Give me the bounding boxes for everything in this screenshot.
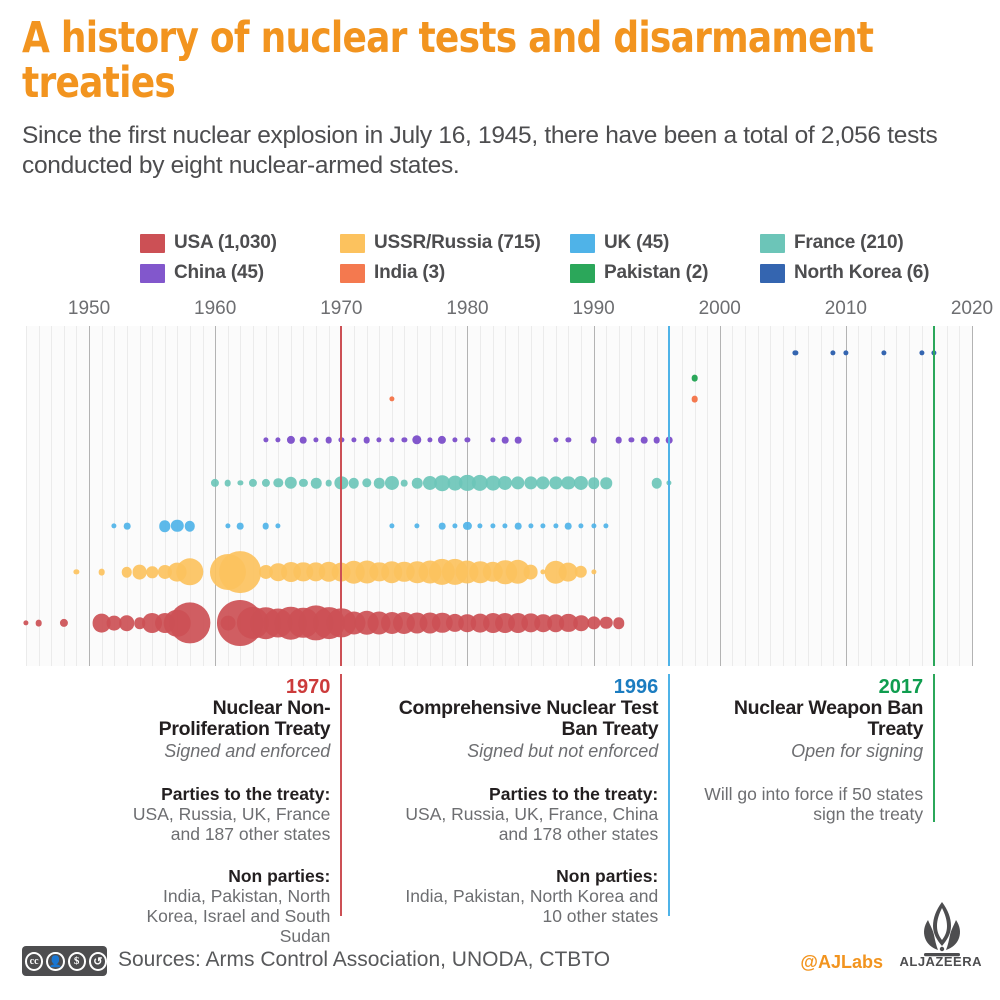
- bubble-northkorea-2013: [881, 350, 886, 355]
- legend-label-india: India (3): [374, 262, 445, 284]
- gridline-2000: [720, 326, 721, 666]
- gridline-2010: [846, 326, 847, 666]
- gridline-2004: [770, 326, 771, 666]
- bubble-france-1990: [588, 477, 600, 489]
- bubble-ussrrussia-1989: [575, 566, 587, 578]
- bubble-china-1978: [438, 436, 446, 444]
- bubble-france-1975: [401, 480, 408, 487]
- gridline-2002: [745, 326, 746, 666]
- gridline-2009: [833, 326, 834, 666]
- bubble-ussrrussia-1985: [523, 565, 538, 580]
- treaty-nonparties-heading-1996: Non parties:: [398, 866, 658, 886]
- bubble-france-1961: [224, 480, 231, 487]
- gridline-1950: [89, 326, 90, 666]
- bubble-usa-1990: [587, 616, 600, 629]
- bubble-uk-1964: [262, 523, 269, 530]
- treaty-name-2017: Nuclear Weapon Ban Treaty: [695, 698, 923, 740]
- treaty-name-1970: Nuclear Non-Proliferation Treaty: [125, 698, 330, 740]
- gridline-1954: [140, 326, 141, 666]
- bubble-uk-1976: [414, 523, 419, 528]
- bubble-uk-1985: [528, 523, 533, 528]
- gridline-1993: [631, 326, 632, 666]
- legend-item-india: India (3): [340, 262, 570, 284]
- bubble-china-1984: [515, 437, 522, 444]
- treaty-year-1996: 1996: [398, 676, 658, 698]
- bubble-china-1973: [377, 437, 382, 442]
- bubble-india-1998: [691, 396, 698, 403]
- gridline-2007: [808, 326, 809, 666]
- legend-label-france: France (210): [794, 232, 904, 254]
- bubble-france-1974: [385, 476, 399, 490]
- legend-item-china: China (45): [140, 262, 340, 284]
- page-title: A history of nuclear tests and disarmame…: [22, 16, 906, 106]
- bubble-france-1983: [498, 476, 512, 490]
- bubble-china-1987: [553, 437, 558, 442]
- bubble-france-1963: [249, 479, 257, 487]
- bubble-france-1985: [524, 476, 537, 489]
- legend-item-northkorea: North Korea (6): [760, 262, 980, 284]
- gridline-2008: [821, 326, 822, 666]
- treaty-parties-body-1996: USA, Russia, UK, France, China and 178 o…: [398, 804, 658, 844]
- axis-label-1980: 1980: [446, 298, 488, 320]
- gridline-1992: [619, 326, 620, 666]
- gridline-2014: [896, 326, 897, 666]
- bubble-uk-1952: [112, 523, 117, 528]
- bubble-china-1968: [314, 437, 319, 442]
- bubble-northkorea-2006: [793, 350, 798, 355]
- legend-swatch-china: [140, 264, 165, 283]
- bubble-france-1971: [349, 478, 360, 489]
- legend-label-pakistan: Pakistan (2): [604, 262, 708, 284]
- bubble-france-1965: [274, 478, 283, 487]
- cc-mark-sa-icon: ↺: [89, 952, 107, 971]
- bubble-china-1965: [276, 437, 281, 442]
- treaty-block-1970: 1970Nuclear Non-Proliferation TreatySign…: [125, 676, 330, 946]
- bubble-china-1995: [653, 437, 660, 444]
- bubble-france-1995: [651, 478, 662, 489]
- bubble-uk-1956: [159, 520, 171, 532]
- bubble-france-1968: [311, 478, 322, 489]
- treaty-line-plot-1996: [668, 326, 670, 666]
- page-subtitle: Since the first nuclear explosion in Jul…: [22, 121, 972, 181]
- cc-mark-nc-icon: $: [68, 952, 86, 971]
- bubble-uk-1961: [225, 523, 230, 528]
- treaty-parties-heading-1970: Parties to the treaty:: [125, 784, 330, 804]
- bubble-france-1987: [549, 476, 562, 489]
- gridline-1999: [707, 326, 708, 666]
- bubble-ussrrussia-1990: [591, 569, 596, 574]
- bubble-france-1976: [412, 478, 423, 489]
- legend-swatch-uk: [570, 234, 595, 253]
- bubble-china-1972: [363, 437, 370, 444]
- bubble-france-1972: [362, 478, 371, 487]
- bubble-france-1966: [285, 477, 297, 489]
- axis-label-1960: 1960: [194, 298, 236, 320]
- bubble-usa-1953: [119, 615, 135, 631]
- bubble-france-1989: [574, 476, 588, 490]
- gridline-2003: [758, 326, 759, 666]
- legend-label-china: China (45): [174, 262, 264, 284]
- bubble-uk-1987: [553, 523, 558, 528]
- ajlabs-handle: @AJLabs: [800, 952, 883, 973]
- bubble-uk-1962: [237, 523, 244, 530]
- gridline-1994: [644, 326, 645, 666]
- gridline-1946: [39, 326, 40, 666]
- bubble-uk-1980: [463, 522, 471, 530]
- treaty-nonparties-heading-1970: Non parties:: [125, 866, 330, 886]
- gridline-2011: [858, 326, 859, 666]
- bubble-china-1979: [452, 437, 457, 442]
- axis-label-1970: 1970: [320, 298, 362, 320]
- treaty-name-1996: Comprehensive Nuclear Test Ban Treaty: [398, 698, 658, 740]
- bubble-usa-1946: [35, 620, 42, 627]
- bubble-usa-1991: [600, 617, 612, 629]
- treaty-status-2017: Open for signing: [695, 740, 923, 762]
- bubble-uk-1986: [541, 523, 546, 528]
- bubble-ussrrussia-1953: [122, 567, 133, 578]
- gridline-1945: [26, 326, 27, 666]
- bubble-uk-1984: [515, 523, 522, 530]
- treaty-year-1970: 1970: [125, 676, 330, 698]
- bubble-france-1964: [262, 479, 270, 487]
- treaty-status-1996: Signed but not enforced: [398, 740, 658, 762]
- chart-legend: USA (1,030)USSR/Russia (715)UK (45)Franc…: [140, 228, 980, 288]
- gridline-1947: [51, 326, 52, 666]
- gridline-2005: [783, 326, 784, 666]
- legend-item-france: France (210): [760, 232, 980, 254]
- bubble-china-1967: [300, 437, 307, 444]
- treaty-status-1970: Signed and enforced: [125, 740, 330, 762]
- bubble-france-1986: [537, 476, 550, 489]
- bubble-china-1988: [566, 437, 571, 442]
- bubble-uk-1983: [503, 523, 508, 528]
- gridline-2006: [795, 326, 796, 666]
- bubble-northkorea-2009: [831, 350, 836, 355]
- bubble-india-1974: [389, 396, 394, 401]
- legend-swatch-india: [340, 264, 365, 283]
- bubble-uk-1965: [276, 523, 281, 528]
- bubble-china-1975: [402, 437, 407, 442]
- bubble-uk-1953: [124, 523, 131, 530]
- bubble-uk-1989: [578, 523, 583, 528]
- bubble-france-1967: [299, 479, 307, 487]
- axis-label-1990: 1990: [572, 298, 614, 320]
- aljazeera-wordmark: ALJAZEERA: [899, 954, 982, 969]
- treaty-line-plot-1970: [340, 326, 342, 666]
- bubble-usa-1958: [169, 602, 210, 643]
- bubble-france-1973: [374, 478, 385, 489]
- bubble-china-1974: [389, 437, 394, 442]
- bubble-china-1990: [590, 437, 597, 444]
- treaty-line-ext-1970: [340, 674, 342, 916]
- treaty-block-1996: 1996Comprehensive Nuclear Test Ban Treat…: [398, 676, 658, 926]
- treaty-parties-2017: Will go into force if 50 states sign the…: [695, 784, 923, 824]
- bubble-timeline-plot: [26, 326, 972, 666]
- treaty-parties-1970: Parties to the treaty:USA, Russia, UK, F…: [125, 784, 330, 844]
- treaty-nonparties-1996: Non parties:India, Pakistan, North Korea…: [398, 866, 658, 926]
- bubble-china-1966: [287, 436, 295, 444]
- bubble-usa-1948: [60, 619, 68, 627]
- bubble-uk-1990: [591, 523, 596, 528]
- bubble-china-1977: [427, 437, 432, 442]
- bubble-china-1976: [412, 435, 421, 444]
- bubble-uk-1957: [171, 520, 183, 532]
- bubble-uk-1978: [439, 523, 446, 530]
- bubble-ussrrussia-1955: [146, 566, 158, 578]
- bubble-uk-1991: [604, 523, 609, 528]
- gridline-1960: [215, 326, 216, 666]
- bubble-china-1994: [641, 437, 648, 444]
- bubble-china-1992: [615, 437, 622, 444]
- bubble-uk-1974: [389, 523, 394, 528]
- gridline-1948: [64, 326, 65, 666]
- bubble-usa-1945: [23, 620, 28, 625]
- x-axis-tick-labels: 19501960197019801990200020102020: [0, 298, 1000, 322]
- bubble-china-1983: [502, 437, 509, 444]
- legend-swatch-ussr: [340, 234, 365, 253]
- bubble-france-1960: [211, 479, 219, 487]
- axis-label-2010: 2010: [825, 298, 867, 320]
- legend-label-usa: USA (1,030): [174, 232, 277, 254]
- gridline-2012: [871, 326, 872, 666]
- legend-label-uk: UK (45): [604, 232, 669, 254]
- bubble-uk-1979: [452, 523, 457, 528]
- gridline-2015: [909, 326, 910, 666]
- legend-label-ussr: USSR/Russia (715): [374, 232, 541, 254]
- treaty-line-plot-2017: [933, 326, 935, 666]
- axis-label-2020: 2020: [951, 298, 993, 320]
- legend-item-uk: UK (45): [570, 232, 760, 254]
- bubble-usa-1992: [613, 617, 625, 629]
- treaty-block-2017: 2017Nuclear Weapon Ban TreatyOpen for si…: [695, 676, 923, 824]
- bubble-pakistan-1998: [691, 375, 698, 382]
- treaty-parties-body-1970: USA, Russia, UK, France and 187 other st…: [125, 804, 330, 844]
- legend-label-northkorea: North Korea (6): [794, 262, 929, 284]
- gridline-1995: [657, 326, 658, 666]
- footer: cc👤$↺ Sources: Arms Control Association,…: [0, 920, 1000, 1000]
- bubble-france-1962: [238, 480, 243, 485]
- bubble-uk-1958: [185, 521, 196, 532]
- treaty-parties-heading-1996: Parties to the treaty:: [398, 784, 658, 804]
- bubble-uk-1988: [565, 523, 572, 530]
- bubble-china-1971: [351, 437, 356, 442]
- bubble-ussrrussia-1951: [98, 569, 105, 576]
- gridline-2020: [972, 326, 973, 666]
- bubble-china-1964: [263, 437, 268, 442]
- bubble-ussrrussia-1954: [132, 565, 147, 580]
- bubble-china-1969: [325, 437, 332, 444]
- treaty-year-2017: 2017: [695, 676, 923, 698]
- legend-item-usa: USA (1,030): [140, 232, 340, 254]
- treaty-parties-1996: Parties to the treaty:USA, Russia, UK, F…: [398, 784, 658, 844]
- bubble-ussrrussia-1962: [220, 551, 262, 593]
- sources-text: Sources: Arms Control Association, UNODA…: [118, 948, 610, 972]
- gridline-1997: [682, 326, 683, 666]
- legend-swatch-pakistan: [570, 264, 595, 283]
- bubble-ussrrussia-1949: [74, 569, 79, 574]
- cc-mark-cc-icon: cc: [25, 952, 43, 971]
- treaty-parties-body-2017: Will go into force if 50 states sign the…: [695, 784, 923, 824]
- legend-item-ussr: USSR/Russia (715): [340, 232, 570, 254]
- bubble-uk-1982: [490, 523, 495, 528]
- axis-label-2000: 2000: [699, 298, 741, 320]
- bubble-france-1991: [600, 477, 612, 489]
- gridline-2001: [732, 326, 733, 666]
- gridline-2016: [922, 326, 923, 666]
- bubble-northkorea-2010: [843, 350, 848, 355]
- gridline-2018: [947, 326, 948, 666]
- bubble-france-1984: [511, 476, 524, 489]
- gridline-2013: [884, 326, 885, 666]
- al-jazeera-logo-icon: [910, 900, 974, 962]
- gridline-1949: [76, 326, 77, 666]
- bubble-china-1980: [465, 437, 470, 442]
- legend-swatch-northkorea: [760, 264, 785, 283]
- treaty-line-ext-1996: [668, 674, 670, 916]
- treaty-line-ext-2017: [933, 674, 935, 822]
- header: A history of nuclear tests and disarmame…: [22, 16, 972, 181]
- bubble-china-1993: [629, 437, 634, 442]
- bubble-china-1982: [490, 437, 495, 442]
- gridline-1990: [594, 326, 595, 666]
- axis-label-1950: 1950: [68, 298, 110, 320]
- legend-item-pakistan: Pakistan (2): [570, 262, 760, 284]
- bubble-france-1969: [325, 480, 332, 487]
- gridline-1991: [606, 326, 607, 666]
- bubble-ussrrussia-1958: [176, 558, 203, 585]
- legend-swatch-france: [760, 234, 785, 253]
- legend-swatch-usa: [140, 234, 165, 253]
- gridline-2019: [959, 326, 960, 666]
- cc-mark-by-icon: 👤: [46, 952, 64, 971]
- creative-commons-icon: cc👤$↺: [22, 946, 107, 976]
- bubble-northkorea-2016: [919, 350, 924, 355]
- bubble-uk-1981: [477, 523, 482, 528]
